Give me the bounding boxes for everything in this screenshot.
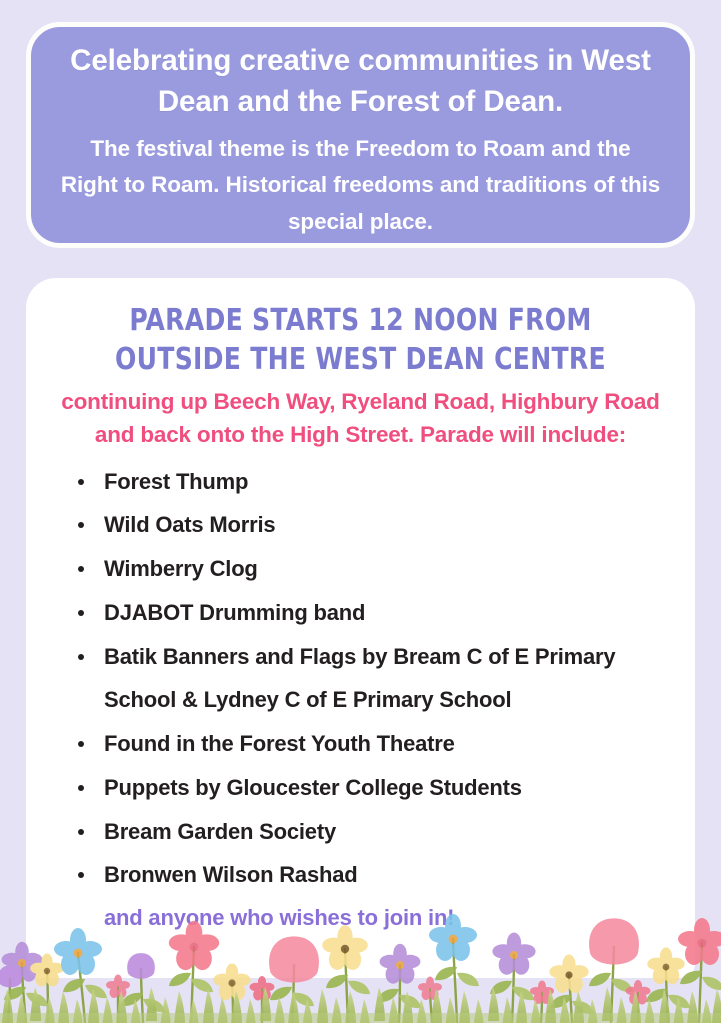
festival-poster: Celebrating creative communities in West… xyxy=(0,0,721,1023)
poster-title: Celebrating creative communities in West… xyxy=(57,40,664,123)
list-item: Batik Banners and Flags by Bream C of E … xyxy=(78,635,665,723)
parade-participants-list: Forest Thump Wild Oats Morris Wimberry C… xyxy=(26,460,695,898)
parade-heading: PARADE STARTS 12 NOON FROM OUTSIDE THE W… xyxy=(68,301,653,379)
content-card: PARADE STARTS 12 NOON FROM OUTSIDE THE W… xyxy=(26,278,695,978)
list-item: Wimberry Clog xyxy=(78,547,665,591)
list-item: Wild Oats Morris xyxy=(78,503,665,547)
header-banner: Celebrating creative communities in West… xyxy=(26,22,695,248)
list-item: Bronwen Wilson Rashad xyxy=(78,853,665,897)
parade-route-text: continuing up Beech Way, Ryeland Road, H… xyxy=(44,385,677,452)
closing-line: and anyone who wishes to join in! xyxy=(104,905,695,931)
list-item: Puppets by Gloucester College Students xyxy=(78,766,665,810)
list-item: Forest Thump xyxy=(78,460,665,504)
poster-subtitle: The festival theme is the Freedom to Roa… xyxy=(61,131,661,240)
list-item: DJABOT Drumming band xyxy=(78,591,665,635)
list-item: Bream Garden Society xyxy=(78,810,665,854)
list-item: Found in the Forest Youth Theatre xyxy=(78,722,665,766)
